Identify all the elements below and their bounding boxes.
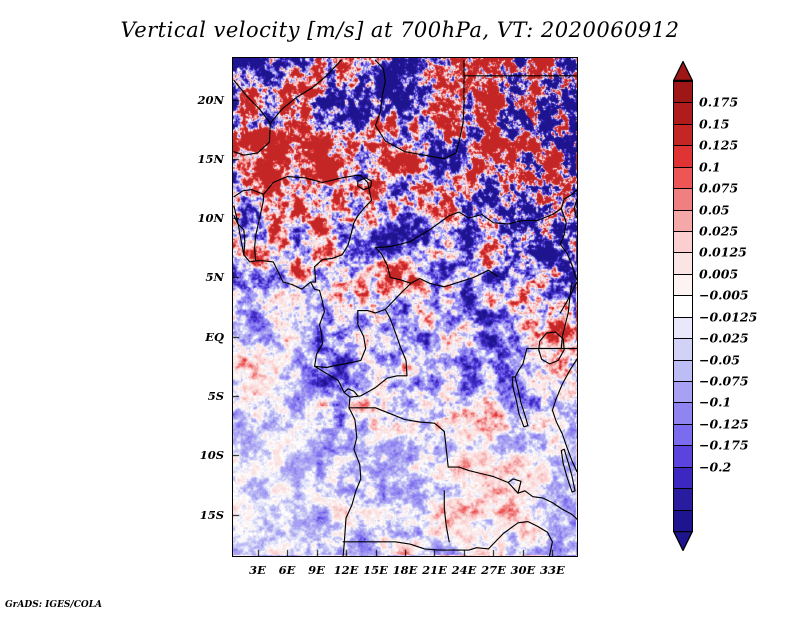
colorbar-label-0: 0.175 — [699, 95, 738, 110]
colorbar-label-3: 0.1 — [699, 159, 721, 174]
y-tick-5S: 5S — [184, 389, 224, 403]
colorbar-label-4: 0.075 — [699, 181, 738, 196]
colorbar-band-0 — [673, 81, 693, 104]
colorbar-label-7: 0.0125 — [699, 245, 747, 260]
colorbar-band-3 — [673, 145, 693, 168]
page-title: Vertical velocity [m/s] at 700hPa, VT: 2… — [0, 18, 800, 42]
colorbar-label-5: 0.05 — [699, 202, 729, 217]
colorbar-label-17: −0.2 — [699, 459, 731, 474]
colorbar-label-1: 0.15 — [699, 116, 729, 131]
map-line-16 — [376, 212, 460, 248]
map-line-9 — [270, 60, 341, 123]
y-tick-15N: 15N — [184, 152, 224, 166]
y-tick-EQ: EQ — [184, 330, 224, 344]
colorbar-label-6: 0.025 — [699, 224, 738, 239]
map-line-29 — [508, 479, 521, 493]
colorbar-label-14: −0.1 — [699, 395, 731, 410]
y-tick-15S: 15S — [184, 508, 224, 522]
map-line-19 — [350, 309, 407, 397]
colorbar-label-9: −0.005 — [699, 288, 749, 303]
colorbar-band-9 — [673, 274, 693, 297]
colorbar-band-12 — [673, 338, 693, 361]
y-tick-5N: 5N — [184, 270, 224, 284]
map-line-20 — [344, 389, 358, 396]
colorbar-band-1 — [673, 102, 693, 125]
map-line-4 — [539, 332, 565, 364]
colorbar-band-16 — [673, 424, 693, 447]
colorbar-label-2: 0.125 — [699, 138, 738, 153]
map-line-17 — [376, 248, 498, 287]
map-line-6 — [561, 449, 575, 492]
grads-footer: GrADS: IGES/COLA — [5, 600, 102, 610]
colorbar-band-6 — [673, 210, 693, 233]
colorbar-top-arrow — [673, 61, 693, 81]
map-line-0 — [234, 206, 361, 556]
colorbar-band-17 — [673, 445, 693, 468]
map-line-14 — [459, 190, 577, 224]
colorbar-band-2 — [673, 124, 693, 147]
map-line-12 — [376, 60, 465, 158]
map-line-32 — [311, 267, 316, 282]
y-tick-10S: 10S — [184, 448, 224, 462]
map-line-21 — [349, 408, 525, 493]
colorbar-band-8 — [673, 252, 693, 275]
colorbar-label-11: −0.025 — [699, 331, 749, 346]
x-tick-33E: 33E — [532, 563, 572, 577]
colorbar: 0.1750.150.1250.10.0750.050.0250.01250.0… — [673, 81, 693, 531]
colorbar-band-7 — [673, 231, 693, 254]
colorbar-label-15: −0.125 — [699, 416, 749, 431]
colorbar-band-4 — [673, 167, 693, 190]
map-plot-frame — [232, 57, 578, 557]
colorbar-band-13 — [673, 360, 693, 383]
colorbar-label-12: −0.05 — [699, 352, 740, 367]
map-line-23 — [444, 491, 449, 542]
colorbar-band-14 — [673, 381, 693, 404]
map-line-24 — [477, 522, 553, 556]
y-tick-10N: 10N — [184, 211, 224, 225]
map-line-11 — [234, 175, 361, 196]
colorbar-band-18 — [673, 467, 693, 490]
map-line-3 — [552, 359, 577, 472]
y-tick-20N: 20N — [184, 93, 224, 107]
colorbar-label-8: 0.005 — [699, 266, 738, 281]
map-line-8 — [234, 81, 270, 156]
colorbar-band-15 — [673, 402, 693, 425]
colorbar-band-11 — [673, 317, 693, 340]
colorbar-label-16: −0.175 — [699, 438, 749, 453]
colorbar-band-20 — [673, 510, 693, 533]
colorbar-band-5 — [673, 188, 693, 211]
map-line-5 — [512, 377, 528, 427]
colorbar-band-10 — [673, 295, 693, 318]
colorbar-bottom-arrow — [673, 531, 693, 551]
colorbar-label-13: −0.075 — [699, 374, 749, 389]
map-borders-overlay — [233, 58, 577, 556]
map-line-31 — [255, 194, 264, 260]
map-line-15 — [560, 209, 577, 280]
map-line-18 — [315, 283, 411, 367]
map-line-25 — [525, 491, 577, 519]
map-line-1 — [574, 199, 577, 218]
colorbar-label-10: −0.0125 — [699, 309, 757, 324]
map-line-22 — [343, 542, 477, 550]
colorbar-band-19 — [673, 488, 693, 511]
map-line-27 — [515, 349, 527, 378]
